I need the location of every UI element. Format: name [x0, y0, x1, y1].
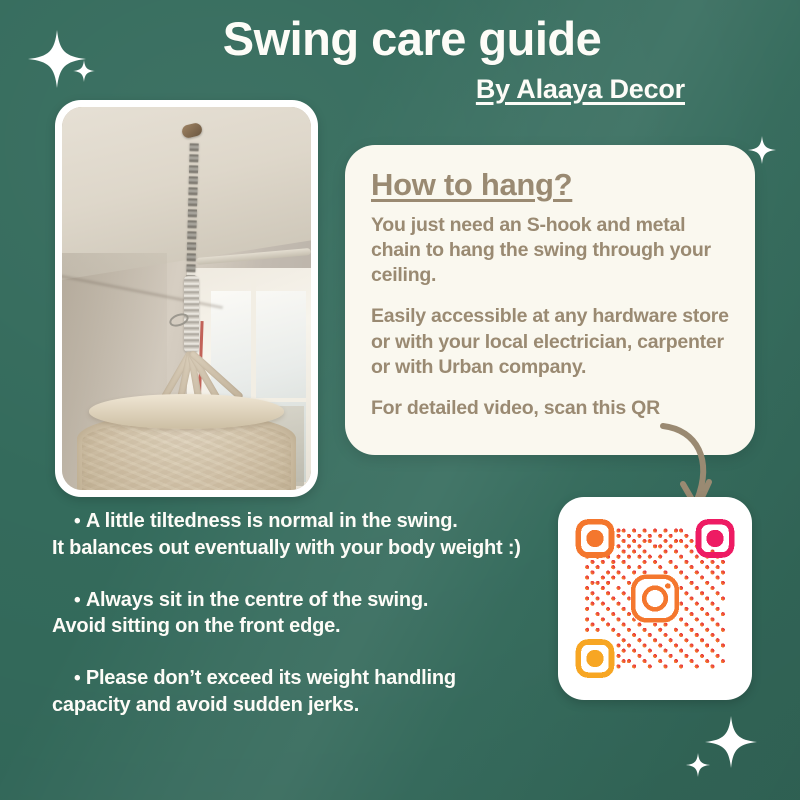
photo-macrame-knots — [82, 421, 291, 490]
tip-body: Avoid sitting on the front edge. — [52, 613, 552, 639]
qr-code-image[interactable] — [568, 507, 742, 690]
sparkle-bottom-right-large — [705, 716, 757, 768]
tip-headline: A little tiltedness is normal in the swi… — [86, 510, 458, 532]
swing-photo — [62, 107, 311, 490]
poster-canvas: Swing care guide By Alaaya Decor — [0, 0, 800, 800]
card-heading: How to hang? — [371, 167, 729, 203]
instagram-qr-card[interactable] — [558, 497, 752, 700]
card-paragraph-1: You just need an S-hook and metal chain … — [371, 213, 729, 288]
tip-item-2: • Always sit in the centre of the swing.… — [52, 587, 552, 640]
page-title: Swing care guide — [0, 14, 800, 64]
bullet-marker: • — [74, 511, 80, 532]
swing-photo-frame — [55, 100, 318, 497]
photo-macrame-rim — [89, 394, 283, 428]
instagram-logo-icon — [631, 574, 680, 623]
bullet-marker: • — [74, 668, 80, 689]
card-paragraph-3: For detailed video, scan this QR — [371, 396, 729, 421]
sparkle-top-right — [748, 136, 776, 164]
sparkle-bottom-right-small — [686, 753, 710, 777]
tip-headline: Please don’t exceed its weight handling — [86, 667, 456, 689]
care-tips-list: • A little tiltedness is normal in the s… — [52, 508, 552, 718]
bullet-marker: • — [74, 590, 80, 611]
tip-item-3: • Please don’t exceed its weight handlin… — [52, 665, 552, 718]
tip-body: capacity and avoid sudden jerks. — [52, 692, 552, 718]
tip-headline: Always sit in the centre of the swing. — [86, 589, 428, 611]
byline: By Alaaya Decor — [476, 74, 685, 105]
tip-item-1: • A little tiltedness is normal in the s… — [52, 508, 552, 561]
card-paragraph-2: Easily accessible at any hardware store … — [371, 304, 729, 379]
tip-body: It balances out eventually with your bod… — [52, 535, 552, 561]
how-to-hang-card: How to hang? You just need an S-hook and… — [345, 145, 755, 455]
